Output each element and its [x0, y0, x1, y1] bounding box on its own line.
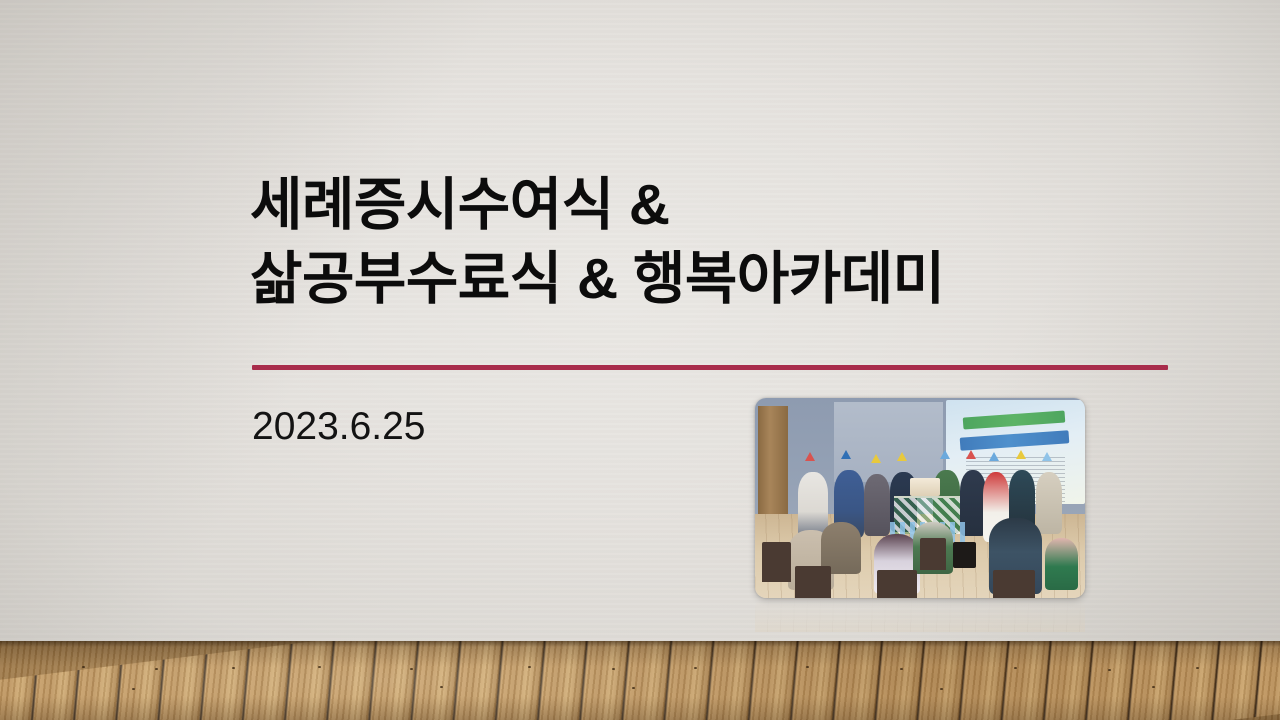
deck-nail — [410, 668, 413, 670]
photo-chair — [993, 570, 1036, 598]
presentation-slide: 세례증시수여식 & 삶공부수료식 & 행복아카데미 2023.6.25 — [0, 0, 1280, 720]
deck-nail — [155, 668, 158, 670]
deck-nail — [528, 666, 531, 668]
deck-nail — [318, 666, 321, 668]
deck-nail — [612, 668, 615, 670]
page-title[interactable]: 세례증시수여식 & 삶공부수료식 & 행복아카데미 — [250, 168, 1210, 316]
photo-reflection-inner — [755, 598, 1085, 632]
slide-date[interactable]: 2023.6.25 — [252, 406, 426, 449]
photo-party-hat — [841, 450, 851, 459]
photo-reflection — [755, 598, 1085, 632]
photo-chair — [920, 538, 946, 570]
photo-handbag — [953, 542, 976, 568]
photo-party-hat — [1042, 452, 1052, 461]
deck-nail — [132, 688, 135, 690]
deck-nail — [440, 686, 443, 688]
deck-nail — [1108, 669, 1111, 671]
wooden-deck-band — [0, 641, 1280, 720]
deck-nail — [1014, 667, 1017, 669]
photo-door-frame — [758, 406, 788, 514]
reflection-floor — [755, 598, 1085, 632]
event-photo[interactable] — [755, 398, 1085, 598]
deck-nail — [1152, 686, 1155, 688]
title-block: 세례증시수여식 & 삶공부수료식 & 행복아카데미 — [250, 168, 1210, 316]
photo-party-hat — [897, 452, 907, 461]
photo-participant — [1036, 472, 1062, 534]
deck-nail — [900, 668, 903, 670]
event-photo-content — [755, 398, 1085, 598]
photo-party-hat — [989, 452, 999, 461]
deck-nail — [82, 666, 85, 668]
photo-party-hat — [1016, 450, 1026, 459]
photo-cake — [910, 478, 940, 496]
deck-planks — [0, 641, 1280, 720]
photo-party-hat — [966, 450, 976, 459]
photo-chair — [762, 542, 792, 582]
photo-chair — [795, 566, 831, 598]
deck-nail — [806, 666, 809, 668]
deck-nail — [232, 667, 235, 669]
photo-party-hat — [805, 452, 815, 461]
deck-nail — [632, 687, 635, 689]
photo-participant — [798, 472, 828, 538]
photo-seated-attendee — [1045, 538, 1078, 590]
deck-nail — [694, 667, 697, 669]
photo-participant — [864, 474, 890, 536]
title-divider-rule — [252, 365, 1168, 370]
photo-party-hat — [871, 454, 881, 463]
photo-chair — [877, 570, 917, 598]
slide-background — [0, 0, 1280, 720]
deck-nail — [1196, 667, 1199, 669]
photo-party-hat — [940, 450, 950, 459]
deck-nail — [940, 688, 943, 690]
